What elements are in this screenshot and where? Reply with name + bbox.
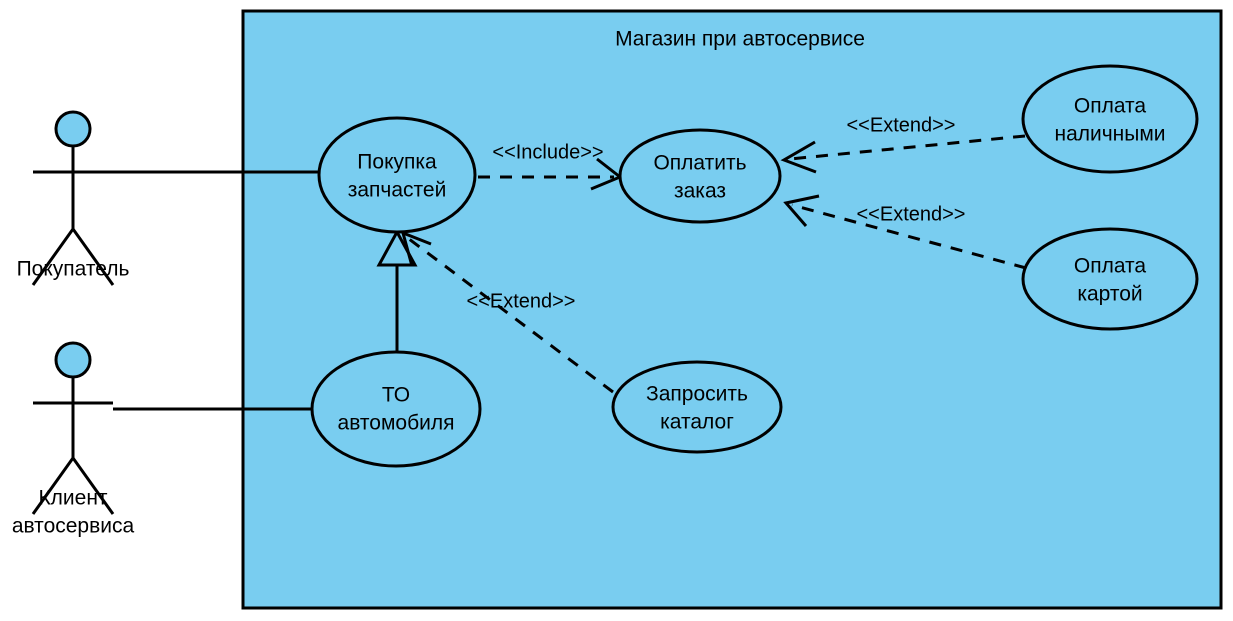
- actor-klient-label-line-2: автосервиса: [12, 515, 135, 538]
- include-stereotype-label: <<Include>>: [492, 141, 603, 163]
- use-case-pokupka-zapchastey-label-line-1: Покупка: [357, 151, 437, 174]
- system-title: Магазин при автосервисе: [615, 28, 865, 51]
- actor-pokupatel-label: Покупатель: [17, 258, 130, 281]
- use-case-pokupka-zapchastey-label-line-2: запчастей: [348, 179, 447, 202]
- use-case-oplata-kartoy-label-line-2: картой: [1077, 283, 1142, 306]
- use-case-zaprosit-katalog[interactable]: Запросить каталог: [613, 362, 781, 452]
- use-case-pokupka-zapchastey[interactable]: Покупка запчастей: [319, 118, 475, 232]
- use-case-to-avtomobilya[interactable]: ТО автомобиля: [312, 352, 480, 466]
- use-case-ellipse: [312, 352, 480, 466]
- use-case-ellipse: [319, 118, 475, 232]
- use-case-oplata-kartoy-label-line-1: Оплата: [1074, 255, 1147, 278]
- extend-katalog-stereotype-label: <<Extend>>: [467, 290, 576, 312]
- actor-pokupatel[interactable]: Покупатель: [17, 112, 130, 285]
- use-case-diagram-canvas: Магазин при автосервисе Покупатель Клиен…: [0, 0, 1233, 621]
- use-case-ellipse: [1023, 229, 1197, 329]
- use-case-to-avtomobilya-label-line-2: автомобиля: [338, 412, 455, 435]
- use-case-ellipse: [613, 362, 781, 452]
- extend-nalichnymi-stereotype-label: <<Extend>>: [847, 114, 956, 136]
- use-case-oplata-nalichnymi-label-line-2: наличными: [1054, 123, 1165, 146]
- use-case-ellipse: [620, 130, 780, 222]
- use-case-zaprosit-katalog-label-line-2: каталог: [660, 411, 734, 434]
- actor-klient-avtoservisa[interactable]: Клиент автосервиса: [12, 343, 135, 538]
- use-case-oplatit-zakaz[interactable]: Оплатить заказ: [620, 130, 780, 222]
- use-case-diagram-root: Магазин при автосервисе Покупатель Клиен…: [0, 0, 1233, 621]
- use-case-oplata-nalichnymi-label-line-1: Оплата: [1074, 95, 1147, 118]
- use-case-oplata-nalichnymi[interactable]: Оплата наличными: [1023, 66, 1197, 172]
- use-case-oplata-kartoy[interactable]: Оплата картой: [1023, 229, 1197, 329]
- use-case-zaprosit-katalog-label-line-1: Запросить: [646, 383, 748, 406]
- use-case-oplatit-zakaz-label-line-2: заказ: [674, 180, 726, 203]
- use-case-to-avtomobilya-label-line-1: ТО: [382, 384, 410, 407]
- actor-klient-label-line-1: Клиент: [38, 487, 107, 510]
- use-case-oplatit-zakaz-label-line-1: Оплатить: [653, 152, 746, 175]
- actor-head-icon: [56, 343, 90, 377]
- use-case-ellipse: [1023, 66, 1197, 172]
- extend-kartoy-stereotype-label: <<Extend>>: [857, 203, 966, 225]
- actor-head-icon: [56, 112, 90, 146]
